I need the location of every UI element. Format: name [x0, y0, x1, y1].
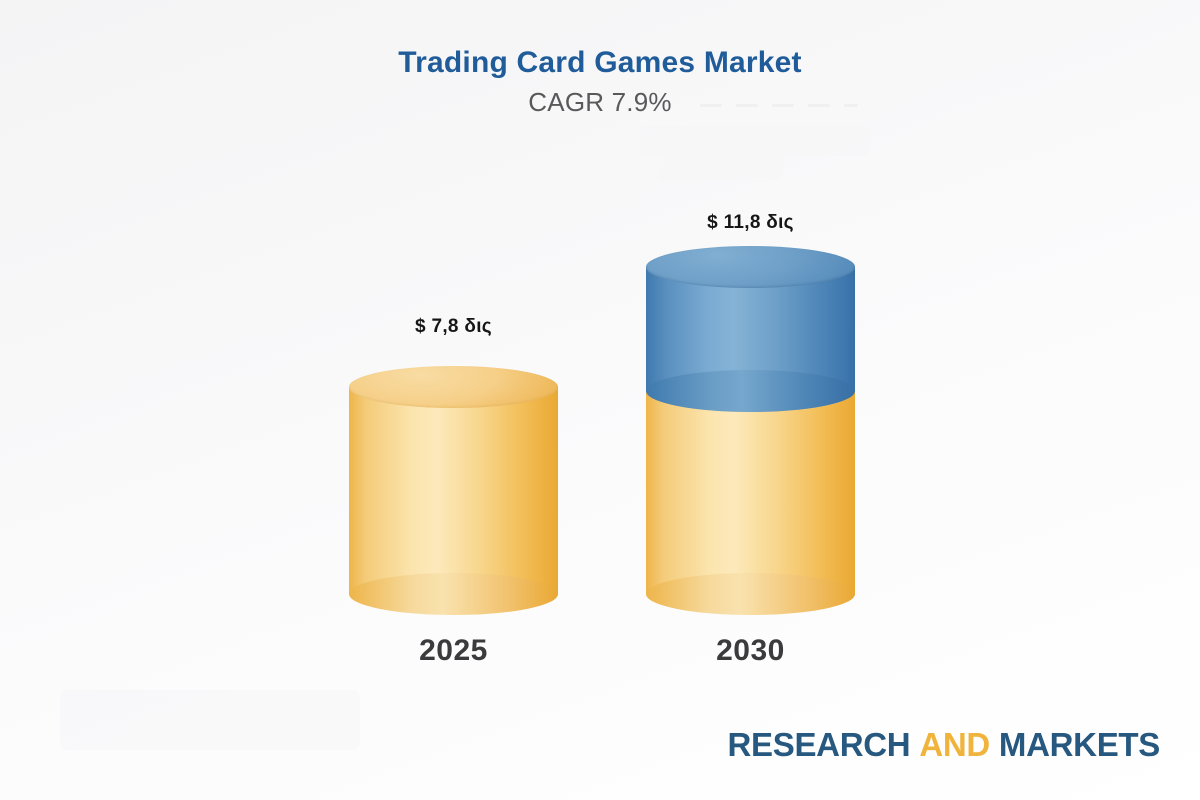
research-and-markets-logo[interactable]: RESEARCHANDMARKETS	[728, 726, 1160, 764]
logo-text-and: AND	[919, 726, 990, 763]
cylinder-body-base-2025	[349, 387, 558, 595]
cylinder-2025	[349, 366, 558, 616]
cylinder-body-base-2030	[646, 391, 855, 595]
cylinder-top-cap-2025	[349, 366, 558, 408]
cylinder-bottom-cap-2025	[349, 573, 558, 615]
infographic-canvas: Trading Card Games Market CAGR 7.9% $ 7,…	[0, 0, 1200, 800]
bar-category-label-2030: 2030	[646, 634, 855, 668]
chart-plot-area: $ 7,8 δις 2025 $ 11,8 δις	[0, 0, 1200, 800]
logo-text-markets: MARKETS	[999, 726, 1160, 763]
logo-text-research: RESEARCH	[728, 726, 911, 763]
bar-group-2025[interactable]: $ 7,8 δις 2025	[349, 300, 558, 680]
bar-group-2030[interactable]: $ 11,8 δις 2030	[646, 180, 855, 680]
bar-category-label-2025: 2025	[349, 634, 558, 668]
cylinder-growth-bottom-cap-2030	[646, 370, 855, 412]
cylinder-2030	[646, 246, 855, 616]
cylinder-growth-top-cap-2030	[646, 246, 855, 288]
bar-value-label-2030: $ 11,8 δις	[646, 212, 855, 234]
cylinder-bottom-cap-2030	[646, 573, 855, 615]
bar-value-label-2025: $ 7,8 δις	[349, 316, 558, 338]
